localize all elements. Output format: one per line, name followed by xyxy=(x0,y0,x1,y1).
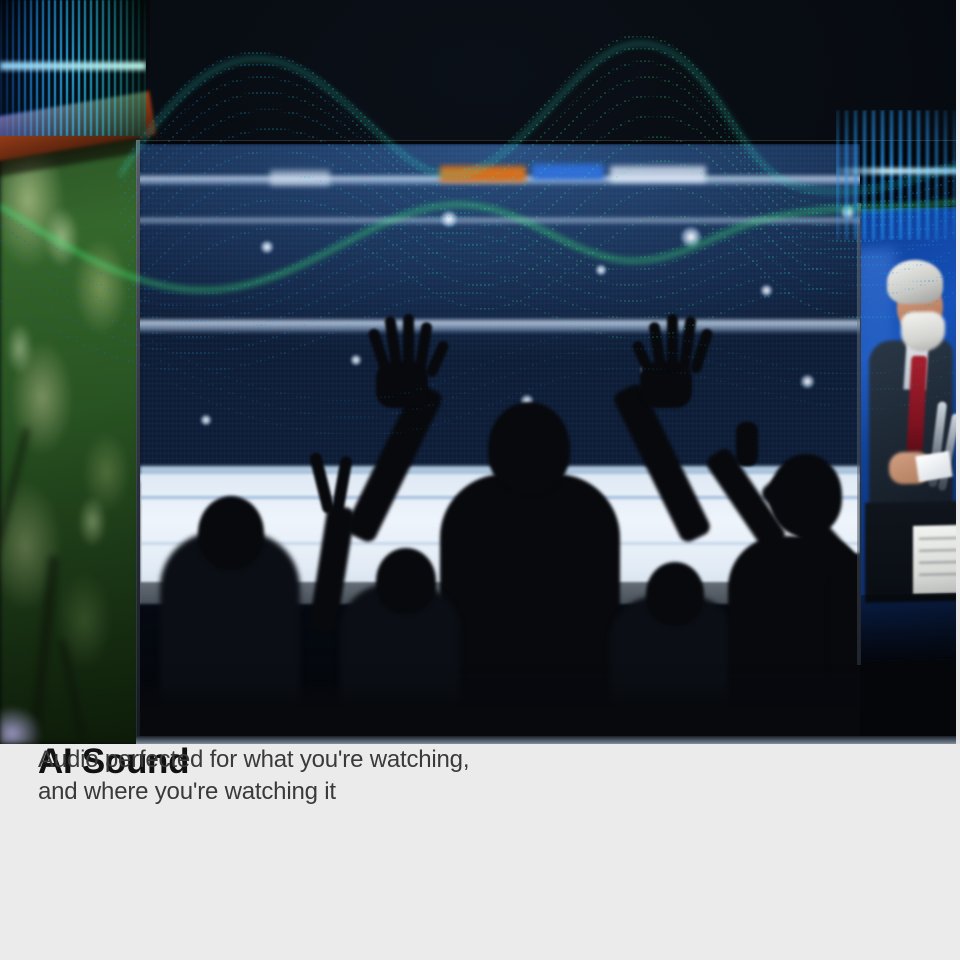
arena-banner xyxy=(532,164,604,180)
tv-right-screen-news xyxy=(861,207,956,661)
podium-plate xyxy=(913,525,956,594)
foreground-shadow xyxy=(140,690,860,736)
arena-banner xyxy=(610,166,706,182)
branch xyxy=(0,428,30,575)
product-feature-card: AI Sound Audio perfected for what you're… xyxy=(0,0,960,960)
arena-rail xyxy=(140,320,860,332)
plate-line xyxy=(919,573,956,576)
fan-head xyxy=(376,548,436,614)
plate-line xyxy=(919,561,956,564)
fan-head xyxy=(646,562,704,626)
arena-banner xyxy=(440,166,526,182)
arena-banner xyxy=(270,170,330,186)
speaker-hair xyxy=(887,259,943,304)
camera-flash xyxy=(200,414,212,426)
camera-flash xyxy=(260,240,274,254)
page-subtitle: Audio perfected for what you're watching… xyxy=(38,744,469,808)
camera-flash xyxy=(595,264,607,276)
camera-flash xyxy=(760,284,773,297)
plate-line xyxy=(919,537,956,540)
camera-flash xyxy=(350,354,362,366)
hero-image xyxy=(0,0,960,744)
speaker-notes xyxy=(915,451,952,482)
camera-flash xyxy=(800,374,815,389)
drink-bottle xyxy=(736,422,758,466)
fan-head xyxy=(198,496,264,570)
branch xyxy=(58,639,104,744)
plate-line xyxy=(919,549,956,552)
tv-main-screen xyxy=(140,144,860,736)
arena-rail xyxy=(140,218,860,224)
tv-bottom-edge xyxy=(136,736,960,744)
caption-panel: AI Sound Audio perfected for what you're… xyxy=(0,744,960,960)
screen-bottom-shadow xyxy=(861,593,956,661)
camera-flash xyxy=(840,204,856,220)
lilac-reflection xyxy=(0,690,60,744)
fan-head xyxy=(488,402,570,494)
camera-flash xyxy=(440,210,458,228)
finger xyxy=(403,314,414,372)
right-edge-strip xyxy=(956,0,960,744)
window-foliage xyxy=(0,126,140,744)
finger xyxy=(667,314,678,372)
camera-flash xyxy=(680,226,702,248)
